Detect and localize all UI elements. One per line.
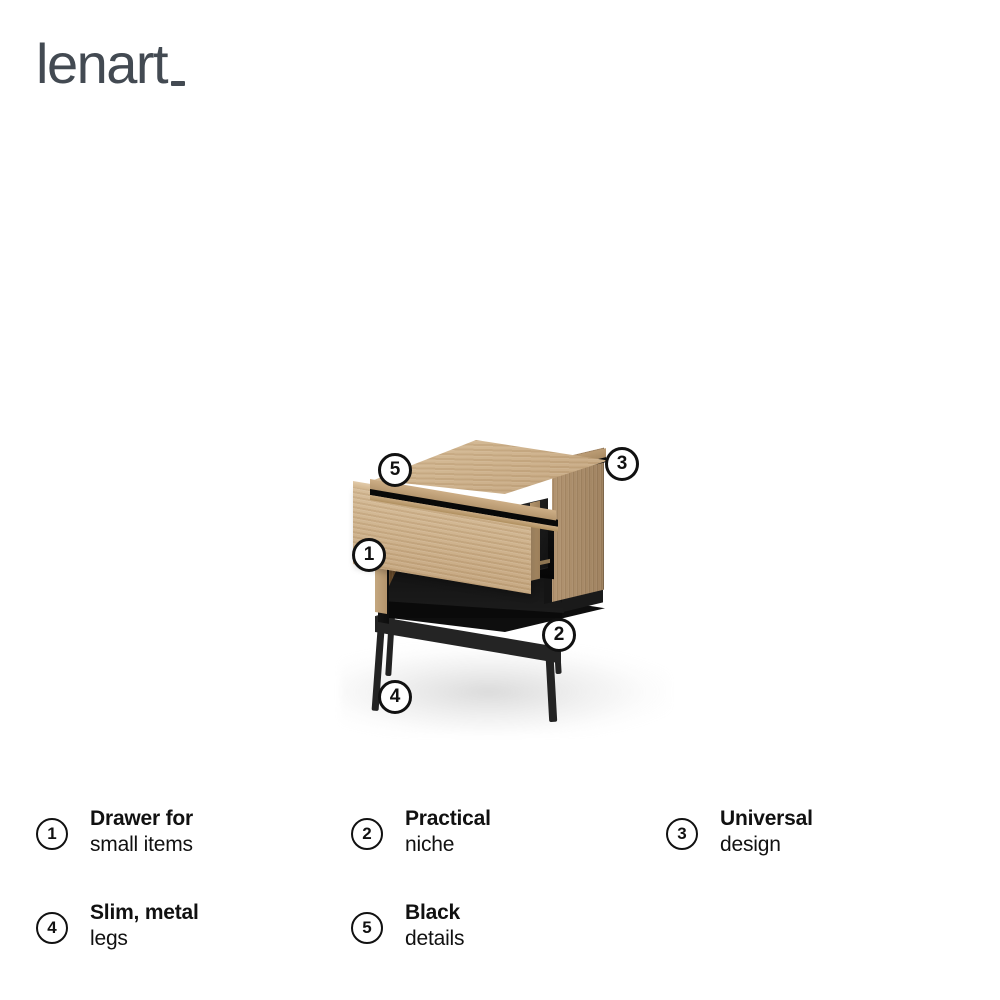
legend-text-1: Drawer for small items [90, 806, 193, 858]
legend-text-5: Black details [405, 900, 464, 952]
callout-marker-2[interactable]: 2 [542, 618, 576, 652]
callout-marker-3[interactable]: 3 [605, 447, 639, 481]
legend-badge-1: 1 [36, 818, 68, 850]
legend-badge-3: 3 [666, 818, 698, 850]
legend-text-4: Slim, metal legs [90, 900, 199, 952]
legend-item-4: 4 Slim, metal legs [36, 900, 351, 994]
legend-subtitle-2: niche [405, 832, 491, 858]
brand-dot-icon [171, 81, 185, 86]
legend-subtitle-1: small items [90, 832, 193, 858]
legend-title-2: Practical [405, 806, 491, 832]
product-illustration: 5 3 1 2 4 [320, 420, 680, 750]
legend-subtitle-5: details [405, 926, 464, 952]
legend-subtitle-4: legs [90, 926, 199, 952]
legend-badge-2: 2 [351, 818, 383, 850]
legend-text-3: Universal design [720, 806, 813, 858]
callout-marker-4[interactable]: 4 [378, 680, 412, 714]
legend-text-2: Practical niche [405, 806, 491, 858]
legend-badge-4: 4 [36, 912, 68, 944]
callout-marker-1[interactable]: 1 [352, 538, 386, 572]
legend-title-4: Slim, metal [90, 900, 199, 926]
legend-item-5: 5 Black details [351, 900, 666, 994]
legend-title-5: Black [405, 900, 464, 926]
legend-item-3: 3 Universal design [666, 806, 981, 900]
legend-subtitle-3: design [720, 832, 813, 858]
callout-marker-5[interactable]: 5 [378, 453, 412, 487]
legend-badge-5: 5 [351, 912, 383, 944]
brand-name: lenart [36, 36, 167, 92]
legend-item-1: 1 Drawer for small items [36, 806, 351, 900]
feature-legend: 1 Drawer for small items 2 Practical nic… [36, 806, 966, 994]
legend-title-3: Universal [720, 806, 813, 832]
legend-item-2: 2 Practical niche [351, 806, 666, 900]
legend-title-1: Drawer for [90, 806, 193, 832]
brand-logo: lenart [36, 36, 185, 92]
